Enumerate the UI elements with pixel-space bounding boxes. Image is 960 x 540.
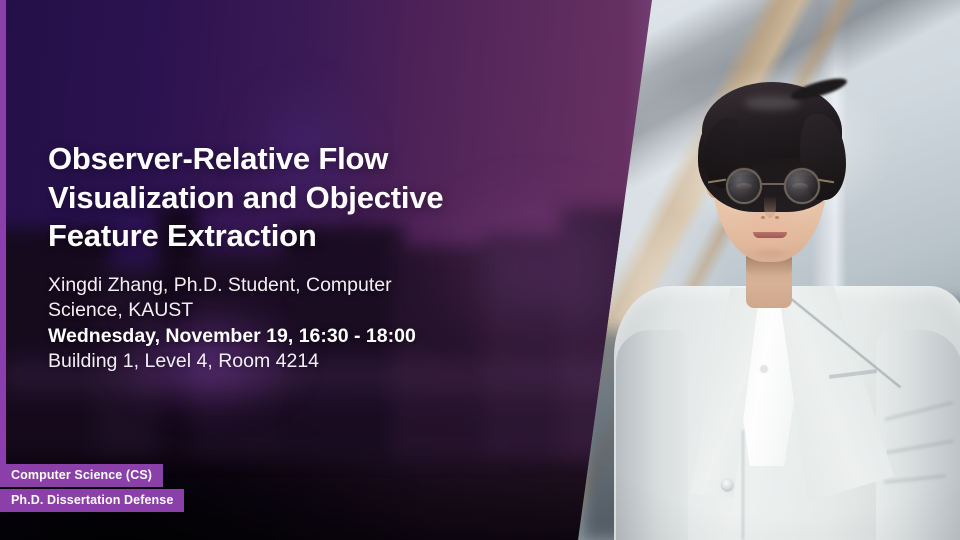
left-accent-strip bbox=[0, 0, 6, 464]
tag-badges: Computer Science (CS) Ph.D. Dissertation… bbox=[0, 464, 184, 512]
title-line-3: Feature Extraction bbox=[48, 217, 518, 256]
status-badge-department[interactable]: Computer Science (CS) bbox=[0, 464, 163, 487]
page-title: Observer-Relative Flow Visualization and… bbox=[48, 140, 518, 256]
talk-details: Xingdi Zhang, Ph.D. Student, Computer Sc… bbox=[48, 273, 518, 375]
speaker-line-2: Science, KAUST bbox=[48, 298, 518, 324]
title-line-2: Visualization and Objective bbox=[48, 179, 518, 218]
badge-row-department: Computer Science (CS) bbox=[0, 464, 184, 487]
speaker-line-1: Xingdi Zhang, Ph.D. Student, Computer bbox=[48, 273, 518, 299]
event-location: Building 1, Level 4, Room 4214 bbox=[48, 349, 518, 375]
event-announcement-slide: Observer-Relative Flow Visualization and… bbox=[0, 0, 960, 540]
event-datetime: Wednesday, November 19, 16:30 - 18:00 bbox=[48, 324, 518, 350]
status-badge-event-type[interactable]: Ph.D. Dissertation Defense bbox=[0, 489, 184, 512]
badge-row-event-type: Ph.D. Dissertation Defense bbox=[0, 489, 184, 512]
title-line-1: Observer-Relative Flow bbox=[48, 140, 518, 179]
talk-info-block: Observer-Relative Flow Visualization and… bbox=[48, 140, 518, 375]
